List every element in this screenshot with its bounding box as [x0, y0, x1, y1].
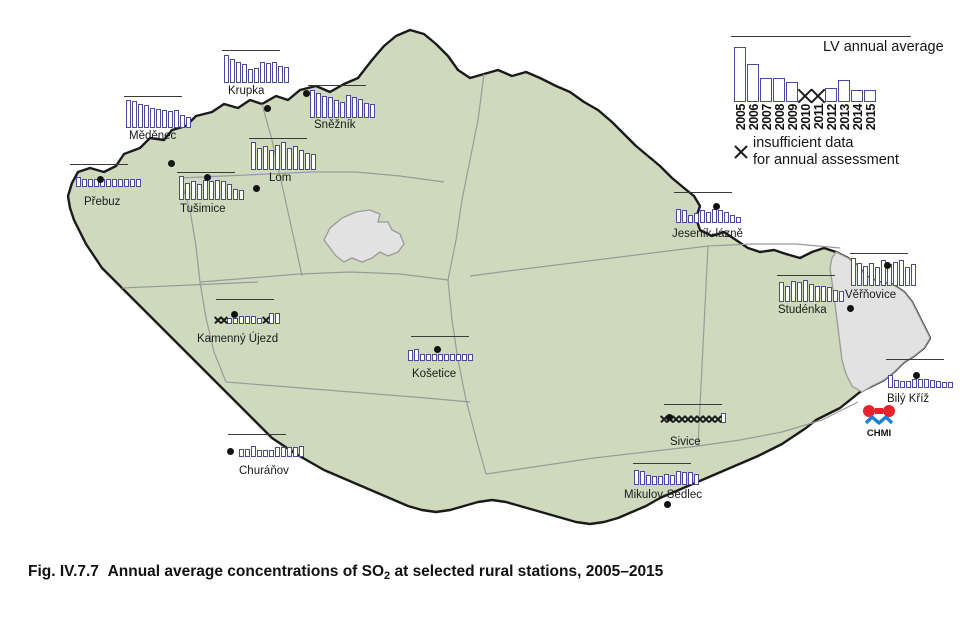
station-bar [888, 375, 893, 388]
station-bar [694, 474, 699, 485]
station-bar [224, 55, 229, 83]
station-bar [426, 354, 431, 361]
station-bar [815, 286, 820, 302]
station-bar [821, 286, 826, 302]
station-bar [275, 145, 280, 170]
station-bar [899, 260, 904, 286]
legend-year-label: 2015 [864, 104, 877, 130]
station-bar [869, 263, 874, 286]
station-bar [88, 179, 93, 187]
station-bar [287, 148, 292, 170]
station-bar [797, 282, 802, 302]
station-bar [340, 102, 345, 118]
legend-bar-xmark [812, 89, 824, 102]
station-bar [275, 313, 280, 324]
legend-year-labels: 2005200620072008200920102011201220132014… [734, 104, 877, 130]
station-bar [328, 97, 333, 118]
station-location-dot [884, 262, 891, 269]
legend-bar [786, 82, 798, 102]
station-bar [863, 266, 868, 286]
station-bar [408, 350, 413, 361]
station-bar [275, 447, 280, 457]
station-bar [293, 146, 298, 170]
station-bar [900, 381, 905, 388]
station-bar [106, 179, 111, 187]
station-bar-chart [179, 176, 244, 200]
station-bar [851, 258, 856, 286]
station-bar-chart [676, 209, 741, 223]
legend-bar [760, 78, 772, 102]
station-bar [257, 450, 262, 457]
station-location-dot [913, 372, 920, 379]
station-bar [712, 209, 717, 223]
station-bar [251, 316, 256, 324]
lv-limit-line [633, 463, 691, 464]
station-bar [918, 379, 923, 388]
legend-year-label: 2014 [851, 104, 864, 130]
station-bar [912, 379, 917, 388]
station-bar [364, 103, 369, 118]
station-bar [136, 179, 141, 187]
lv-limit-line [222, 50, 280, 51]
station-bar [251, 142, 256, 170]
station-bar [299, 150, 304, 170]
station-bar [791, 281, 796, 302]
legend-year-label: 2006 [747, 104, 760, 130]
station-bar [462, 354, 467, 361]
station-bar-chart [310, 90, 375, 118]
station-bar [299, 446, 304, 457]
legend-bar-chart [734, 47, 877, 102]
station-bar [305, 153, 310, 170]
station-bar [227, 318, 232, 324]
station-bar [130, 179, 135, 187]
station-bar [646, 475, 651, 485]
station-bar-xmark [685, 414, 690, 423]
station-label: Měděnec [129, 130, 176, 142]
station-label: Tušimice [180, 203, 226, 215]
station-bar [706, 212, 711, 223]
station-bar [197, 184, 202, 200]
station-bar [809, 284, 814, 302]
station-bar [257, 148, 262, 170]
station-bar [724, 212, 729, 223]
station-bar-xmark [673, 414, 678, 423]
station-bar [209, 181, 214, 200]
chmi-logo-mark [856, 404, 902, 428]
station-bar-chart [126, 100, 191, 128]
station-bar [156, 109, 161, 128]
station-bar [700, 210, 705, 223]
station-bar [352, 97, 357, 118]
figure-caption: Fig. IV.7.7 Annual average concentration… [28, 563, 663, 581]
station-bar-chart [888, 375, 953, 388]
station-bar [736, 217, 741, 223]
station-label: Košetice [412, 368, 456, 380]
station-bar [310, 90, 315, 118]
station-bar [414, 349, 419, 361]
station-bar [432, 354, 437, 361]
legend-bar-xmark [799, 89, 811, 102]
lv-limit-line [124, 96, 182, 97]
station-bar [893, 262, 898, 286]
station-bar [191, 181, 196, 200]
legend-note-line-2: for annual assessment [753, 152, 899, 169]
station-bar [257, 318, 262, 324]
station-bar [287, 447, 292, 457]
station-location-dot [227, 448, 234, 455]
chmi-blue-wave [866, 417, 892, 423]
station-label: Kamenný Újezd [197, 333, 278, 345]
legend-year-label: 2013 [838, 104, 851, 130]
station-bar [785, 286, 790, 302]
station-bar [930, 380, 935, 388]
station-bar [682, 210, 687, 223]
station-bar [180, 115, 185, 128]
station-bar [827, 287, 832, 302]
station-bar [370, 104, 375, 118]
station-bar [334, 100, 339, 118]
station-bar [269, 150, 274, 170]
station-label: Věřňovice [845, 289, 896, 301]
station-bar-xmark [679, 414, 684, 423]
station-bar-xmark [703, 414, 708, 423]
station-label: Mikulov-Sedlec [624, 489, 702, 501]
station-bar [162, 110, 167, 128]
chmi-red-bar [875, 408, 883, 414]
legend-lv-line [731, 36, 911, 37]
station-bar [924, 379, 929, 388]
station-location-dot [264, 105, 271, 112]
station-location-dot [713, 203, 720, 210]
station-bar-chart [215, 313, 280, 324]
legend-bar [864, 90, 876, 102]
station-bar [179, 176, 184, 200]
station-bar-xmark [221, 315, 226, 324]
station-bar [833, 290, 838, 302]
station-bar [118, 179, 123, 187]
station-bar [185, 183, 190, 200]
station-bar [76, 177, 81, 187]
station-location-dot [664, 501, 671, 508]
station-bar [875, 267, 880, 286]
lv-limit-line [411, 336, 469, 337]
station-bar [227, 184, 232, 200]
lv-limit-line [249, 138, 307, 139]
station-bar [248, 69, 253, 83]
station-bar [82, 179, 87, 187]
station-bar-chart [76, 177, 141, 187]
station-bar [233, 189, 238, 200]
station-bar [942, 382, 947, 388]
legend-year-label: 2007 [760, 104, 773, 130]
station-bar [894, 380, 899, 388]
station-location-dot [168, 160, 175, 167]
station-bar [239, 190, 244, 200]
station-bar [215, 180, 220, 200]
lv-limit-line [177, 172, 235, 173]
station-label: Jeseník-lázně [672, 228, 743, 240]
station-label: Churáňov [239, 465, 289, 477]
legend-bar [825, 88, 837, 102]
station-label: Sněžník [314, 119, 356, 131]
station-bar [293, 447, 298, 457]
station-bar [281, 447, 286, 457]
legend-year-label: 2009 [786, 104, 799, 130]
station-bar-chart [224, 55, 289, 83]
station-bar [676, 471, 681, 485]
station-bar [670, 475, 675, 485]
station-bar [284, 67, 289, 83]
legend-bar [773, 78, 785, 102]
station-bar [688, 472, 693, 485]
station-bar-xmark [709, 414, 714, 423]
map-legend: LV annual average 2005200620072008200920… [731, 27, 971, 172]
station-bar [468, 354, 473, 361]
station-bar [664, 474, 669, 485]
chmi-red-circle-left [863, 405, 875, 417]
station-bar [936, 381, 941, 388]
lv-limit-line [886, 359, 944, 360]
lv-limit-line [70, 164, 128, 165]
legend-year-label: 2010 [799, 104, 812, 130]
station-bar [718, 210, 723, 223]
station-label: Krupka [228, 85, 264, 97]
station-bar-chart [634, 470, 699, 485]
station-bar-xmark [215, 315, 220, 324]
map-container: KrupkaMěděnecSněžníkLomPřebuzTušimiceJes… [0, 0, 976, 548]
station-label: Sivice [670, 436, 701, 448]
station-bar [420, 354, 425, 361]
station-bar-xmark [697, 414, 702, 423]
station-bar [266, 63, 271, 83]
station-bar [132, 101, 137, 128]
caption-text-2: at selected rural stations, 2005–2015 [390, 563, 663, 580]
station-location-dot [666, 414, 673, 421]
station-bar-xmark [715, 414, 720, 423]
station-bar [438, 354, 443, 361]
station-bar [138, 104, 143, 128]
station-bar [688, 215, 693, 223]
lv-limit-line [308, 85, 366, 86]
station-bar [269, 450, 274, 457]
lv-limit-line [777, 275, 835, 276]
station-bar [174, 110, 179, 128]
station-location-dot [204, 174, 211, 181]
legend-year-label: 2011 [812, 104, 825, 130]
station-bar [112, 179, 117, 187]
station-bar [263, 146, 268, 170]
lv-limit-line [674, 192, 732, 193]
station-bar [186, 117, 191, 128]
station-bar [358, 99, 363, 118]
caption-subscript: 2 [384, 570, 390, 582]
caption-text-1: Annual average concentrations of SO [108, 563, 384, 580]
station-bar [203, 180, 208, 200]
station-bar [682, 472, 687, 485]
station-bar [126, 100, 131, 128]
legend-insufficient-note: insufficient data for annual assessment [753, 135, 899, 168]
station-bar [239, 449, 244, 457]
station-bar [242, 64, 247, 83]
station-bar [456, 354, 461, 361]
station-bar [906, 381, 911, 388]
station-bar [730, 215, 735, 223]
caption-number: Fig. IV.7.7 [28, 563, 99, 580]
station-bar [857, 263, 862, 286]
station-bar [652, 476, 657, 485]
station-bar-chart [251, 142, 316, 170]
station-bar [260, 62, 265, 83]
station-location-dot [231, 311, 238, 318]
station-bar [779, 282, 784, 302]
station-location-dot [434, 346, 441, 353]
legend-year-label: 2012 [825, 104, 838, 130]
legend-bar [747, 64, 759, 102]
lv-limit-line [228, 434, 286, 435]
station-bar [144, 105, 149, 128]
lv-limit-line [850, 253, 908, 254]
station-bar [322, 96, 327, 118]
station-bar [803, 280, 808, 302]
station-bar-chart [779, 280, 844, 302]
station-bar-xmark [691, 414, 696, 423]
legend-bar [734, 47, 746, 102]
station-location-dot [97, 176, 104, 183]
station-bar [694, 213, 699, 223]
station-bar [634, 470, 639, 485]
chmi-logo: CHMI [856, 404, 902, 440]
station-location-dot [253, 185, 260, 192]
station-bar [251, 446, 256, 457]
lv-limit-line [216, 299, 274, 300]
chmi-label: CHMI [856, 428, 902, 439]
station-bar [236, 62, 241, 83]
station-bar [658, 476, 663, 485]
legend-bar [851, 90, 863, 102]
station-bar [839, 291, 844, 302]
lv-limit-line [664, 404, 722, 405]
station-bar [948, 382, 953, 388]
station-bar [281, 142, 286, 170]
station-bar [245, 449, 250, 457]
station-bar [444, 354, 449, 361]
station-bar-chart [239, 446, 304, 457]
station-bar [676, 209, 681, 223]
station-bar [278, 66, 283, 83]
station-bar [272, 62, 277, 83]
station-label: Lom [269, 172, 291, 184]
station-bar [168, 111, 173, 128]
station-bar [245, 316, 250, 324]
station-location-dot [303, 90, 310, 97]
station-bar [150, 108, 155, 128]
station-bar [254, 68, 259, 83]
station-bar [124, 179, 129, 187]
station-bar [316, 93, 321, 118]
legend-bar [838, 80, 850, 102]
station-bar [905, 267, 910, 286]
station-bar-chart [851, 258, 916, 286]
station-bar-xmark [263, 315, 268, 324]
station-bar [311, 154, 316, 170]
station-bar [239, 316, 244, 324]
chmi-red-circle-right [883, 405, 895, 417]
insufficient-data-x-icon [733, 144, 749, 160]
station-bar [230, 59, 235, 83]
station-bar [221, 181, 226, 200]
station-label: Přebuz [84, 196, 120, 208]
station-bar [640, 471, 645, 485]
station-bar [450, 354, 455, 361]
legend-year-label: 2005 [734, 104, 747, 130]
legend-year-label: 2008 [773, 104, 786, 130]
station-bar [346, 95, 351, 118]
station-bar [263, 450, 268, 457]
station-bar [911, 264, 916, 286]
station-location-dot [847, 305, 854, 312]
legend-note-line-1: insufficient data [753, 135, 899, 152]
station-label: Studénka [778, 304, 827, 316]
station-bar [233, 318, 238, 324]
